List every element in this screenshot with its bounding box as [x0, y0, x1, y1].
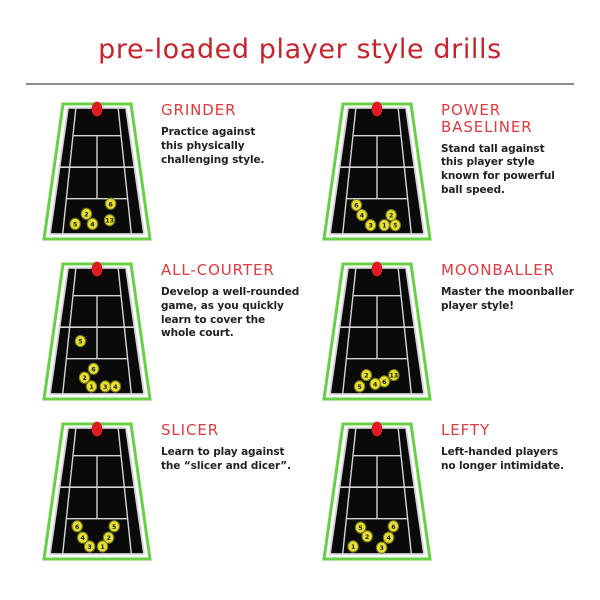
- drill-ball-number: 1: [100, 544, 104, 551]
- drill-ball-marker: 1: [379, 220, 389, 231]
- drill-ball-marker: 6: [72, 521, 82, 532]
- drill-ball-number: 1: [382, 223, 386, 230]
- drill-ball-marker: 6: [105, 198, 115, 209]
- drill-ball-marker: 1: [348, 541, 358, 552]
- drill-ball-number: 3: [368, 223, 372, 230]
- drill-ball-marker: 4: [370, 378, 380, 389]
- player-position-marker: [372, 262, 383, 277]
- drill-ball-marker: 2: [361, 370, 371, 381]
- tennis-court-diagram: 562134: [42, 256, 152, 404]
- drill-style-name: GRINDER: [161, 102, 302, 119]
- drill-panel[interactable]: 642315POWER BASELINERStand tall against …: [322, 96, 582, 244]
- drill-ball-number: 5: [393, 223, 397, 230]
- drill-ball-marker: 2: [81, 208, 91, 219]
- drill-ball-number: 2: [84, 211, 88, 218]
- drill-description: Practice against this physically challen…: [161, 126, 302, 168]
- drill-style-name: MOONBALLER: [441, 262, 582, 279]
- drill-ball-number: 5: [73, 221, 77, 228]
- tennis-court-diagram: 642315: [322, 96, 432, 244]
- drill-style-name: ALL-COURTER: [161, 262, 302, 279]
- drill-ball-number: 5: [358, 525, 362, 532]
- drill-ball-marker: 5: [75, 335, 85, 346]
- drill-text-block: POWER BASELINERStand tall against this p…: [432, 96, 582, 198]
- drill-ball-marker: 4: [383, 532, 393, 543]
- drill-panel[interactable]: 621354GRINDERPractice against this physi…: [42, 96, 302, 244]
- drill-text-block: ALL-COURTERDevelop a well-rounded game, …: [152, 256, 302, 341]
- page-title: pre-loaded player style drills: [0, 36, 600, 63]
- poster-page: pre-loaded player style drills 621354GRI…: [0, 0, 600, 600]
- tennis-court-diagram: 621354: [42, 96, 152, 244]
- drill-ball-marker: 3: [376, 542, 386, 553]
- drill-panel[interactable]: 562413LEFTYLeft-handed players no longer…: [322, 416, 582, 564]
- tennis-court-diagram: 213645: [322, 256, 432, 404]
- drill-ball-number: 2: [365, 534, 369, 541]
- player-position-marker: [92, 262, 103, 277]
- drill-ball-marker: 6: [388, 521, 398, 532]
- drill-ball-number: 6: [354, 203, 358, 210]
- drill-ball-number: 3: [379, 545, 383, 552]
- drill-ball-number: 2: [82, 375, 86, 382]
- drill-description: Stand tall against this player style kno…: [441, 143, 582, 198]
- drill-ball-number: 1: [351, 544, 355, 551]
- drill-ball-number: 2: [106, 535, 110, 542]
- drill-ball-number: 13: [390, 373, 399, 380]
- drill-ball-number: 6: [391, 524, 395, 531]
- drill-ball-marker: 1: [97, 541, 107, 552]
- drill-ball-marker: 5: [109, 521, 119, 532]
- tennis-court-diagram: 654231: [42, 416, 152, 564]
- drill-ball-number: 2: [389, 213, 393, 220]
- drill-text-block: SLICERLearn to play against the “slicer …: [152, 416, 302, 474]
- title-divider: [26, 83, 574, 85]
- player-position-marker: [372, 422, 383, 437]
- drill-ball-number: 6: [91, 366, 95, 373]
- drill-description: Learn to play against the “slicer and di…: [161, 446, 302, 474]
- drill-style-name: SLICER: [161, 422, 302, 439]
- drill-ball-marker: 3: [84, 541, 94, 552]
- drill-ball-marker: 4: [110, 381, 120, 392]
- drill-ball-number: 1: [89, 384, 93, 391]
- page-title-container: pre-loaded player style drills: [0, 36, 600, 63]
- drill-ball-marker: 1: [86, 381, 96, 392]
- drill-ball-number: 2: [364, 373, 368, 380]
- drill-ball-marker: 13: [389, 370, 399, 381]
- drill-ball-number: 6: [109, 201, 113, 208]
- drill-ball-number: 4: [90, 221, 95, 228]
- drill-ball-number: 3: [103, 384, 107, 391]
- drill-ball-marker: 6: [88, 363, 98, 374]
- drill-panel-grid: 621354GRINDERPractice against this physi…: [0, 96, 600, 564]
- drill-style-name: LEFTY: [441, 422, 582, 439]
- drill-ball-number: 5: [78, 339, 82, 346]
- drill-panel[interactable]: 562134ALL-COURTERDevelop a well-rounded …: [42, 256, 302, 404]
- drill-ball-marker: 3: [100, 381, 110, 392]
- drill-ball-marker: 5: [70, 218, 80, 229]
- drill-ball-number: 4: [360, 213, 365, 220]
- drill-ball-marker: 4: [357, 210, 367, 221]
- drill-ball-number: 6: [382, 379, 386, 386]
- player-position-marker: [372, 102, 383, 117]
- drill-ball-marker: 3: [365, 220, 375, 231]
- drill-ball-marker: 5: [390, 220, 400, 231]
- drill-text-block: GRINDERPractice against this physically …: [152, 96, 302, 167]
- drill-ball-number: 4: [373, 381, 378, 388]
- drill-description: Master the moonballer player style!: [441, 286, 582, 314]
- drill-ball-number: 3: [87, 544, 91, 551]
- drill-ball-number: 4: [113, 384, 118, 391]
- player-position-marker: [92, 102, 103, 117]
- drill-ball-number: 4: [386, 535, 391, 542]
- drill-ball-marker: 6: [351, 199, 361, 210]
- drill-description: Left-handed players no longer intimidate…: [441, 446, 582, 474]
- drill-text-block: LEFTYLeft-handed players no longer intim…: [432, 416, 582, 474]
- tennis-court-diagram: 562413: [322, 416, 432, 564]
- drill-ball-number: 4: [81, 535, 86, 542]
- drill-description: Develop a well-rounded game, as you quic…: [161, 286, 302, 341]
- drill-panel[interactable]: 213645MOONBALLERMaster the moonballer pl…: [322, 256, 582, 404]
- drill-ball-number: 6: [75, 524, 79, 531]
- drill-ball-marker: 2: [386, 210, 396, 221]
- drill-text-block: MOONBALLERMaster the moonballer player s…: [432, 256, 582, 314]
- player-position-marker: [92, 422, 103, 437]
- drill-ball-marker: 13: [104, 215, 114, 226]
- drill-ball-marker: 2: [362, 531, 372, 542]
- drill-ball-marker: 5: [354, 381, 364, 392]
- drill-ball-number: 13: [105, 218, 114, 225]
- drill-panel[interactable]: 654231SLICERLearn to play against the “s…: [42, 416, 302, 564]
- drill-style-name: POWER BASELINER: [441, 102, 582, 136]
- drill-ball-number: 5: [357, 384, 361, 391]
- drill-ball-number: 5: [112, 524, 116, 531]
- drill-ball-marker: 4: [87, 218, 97, 229]
